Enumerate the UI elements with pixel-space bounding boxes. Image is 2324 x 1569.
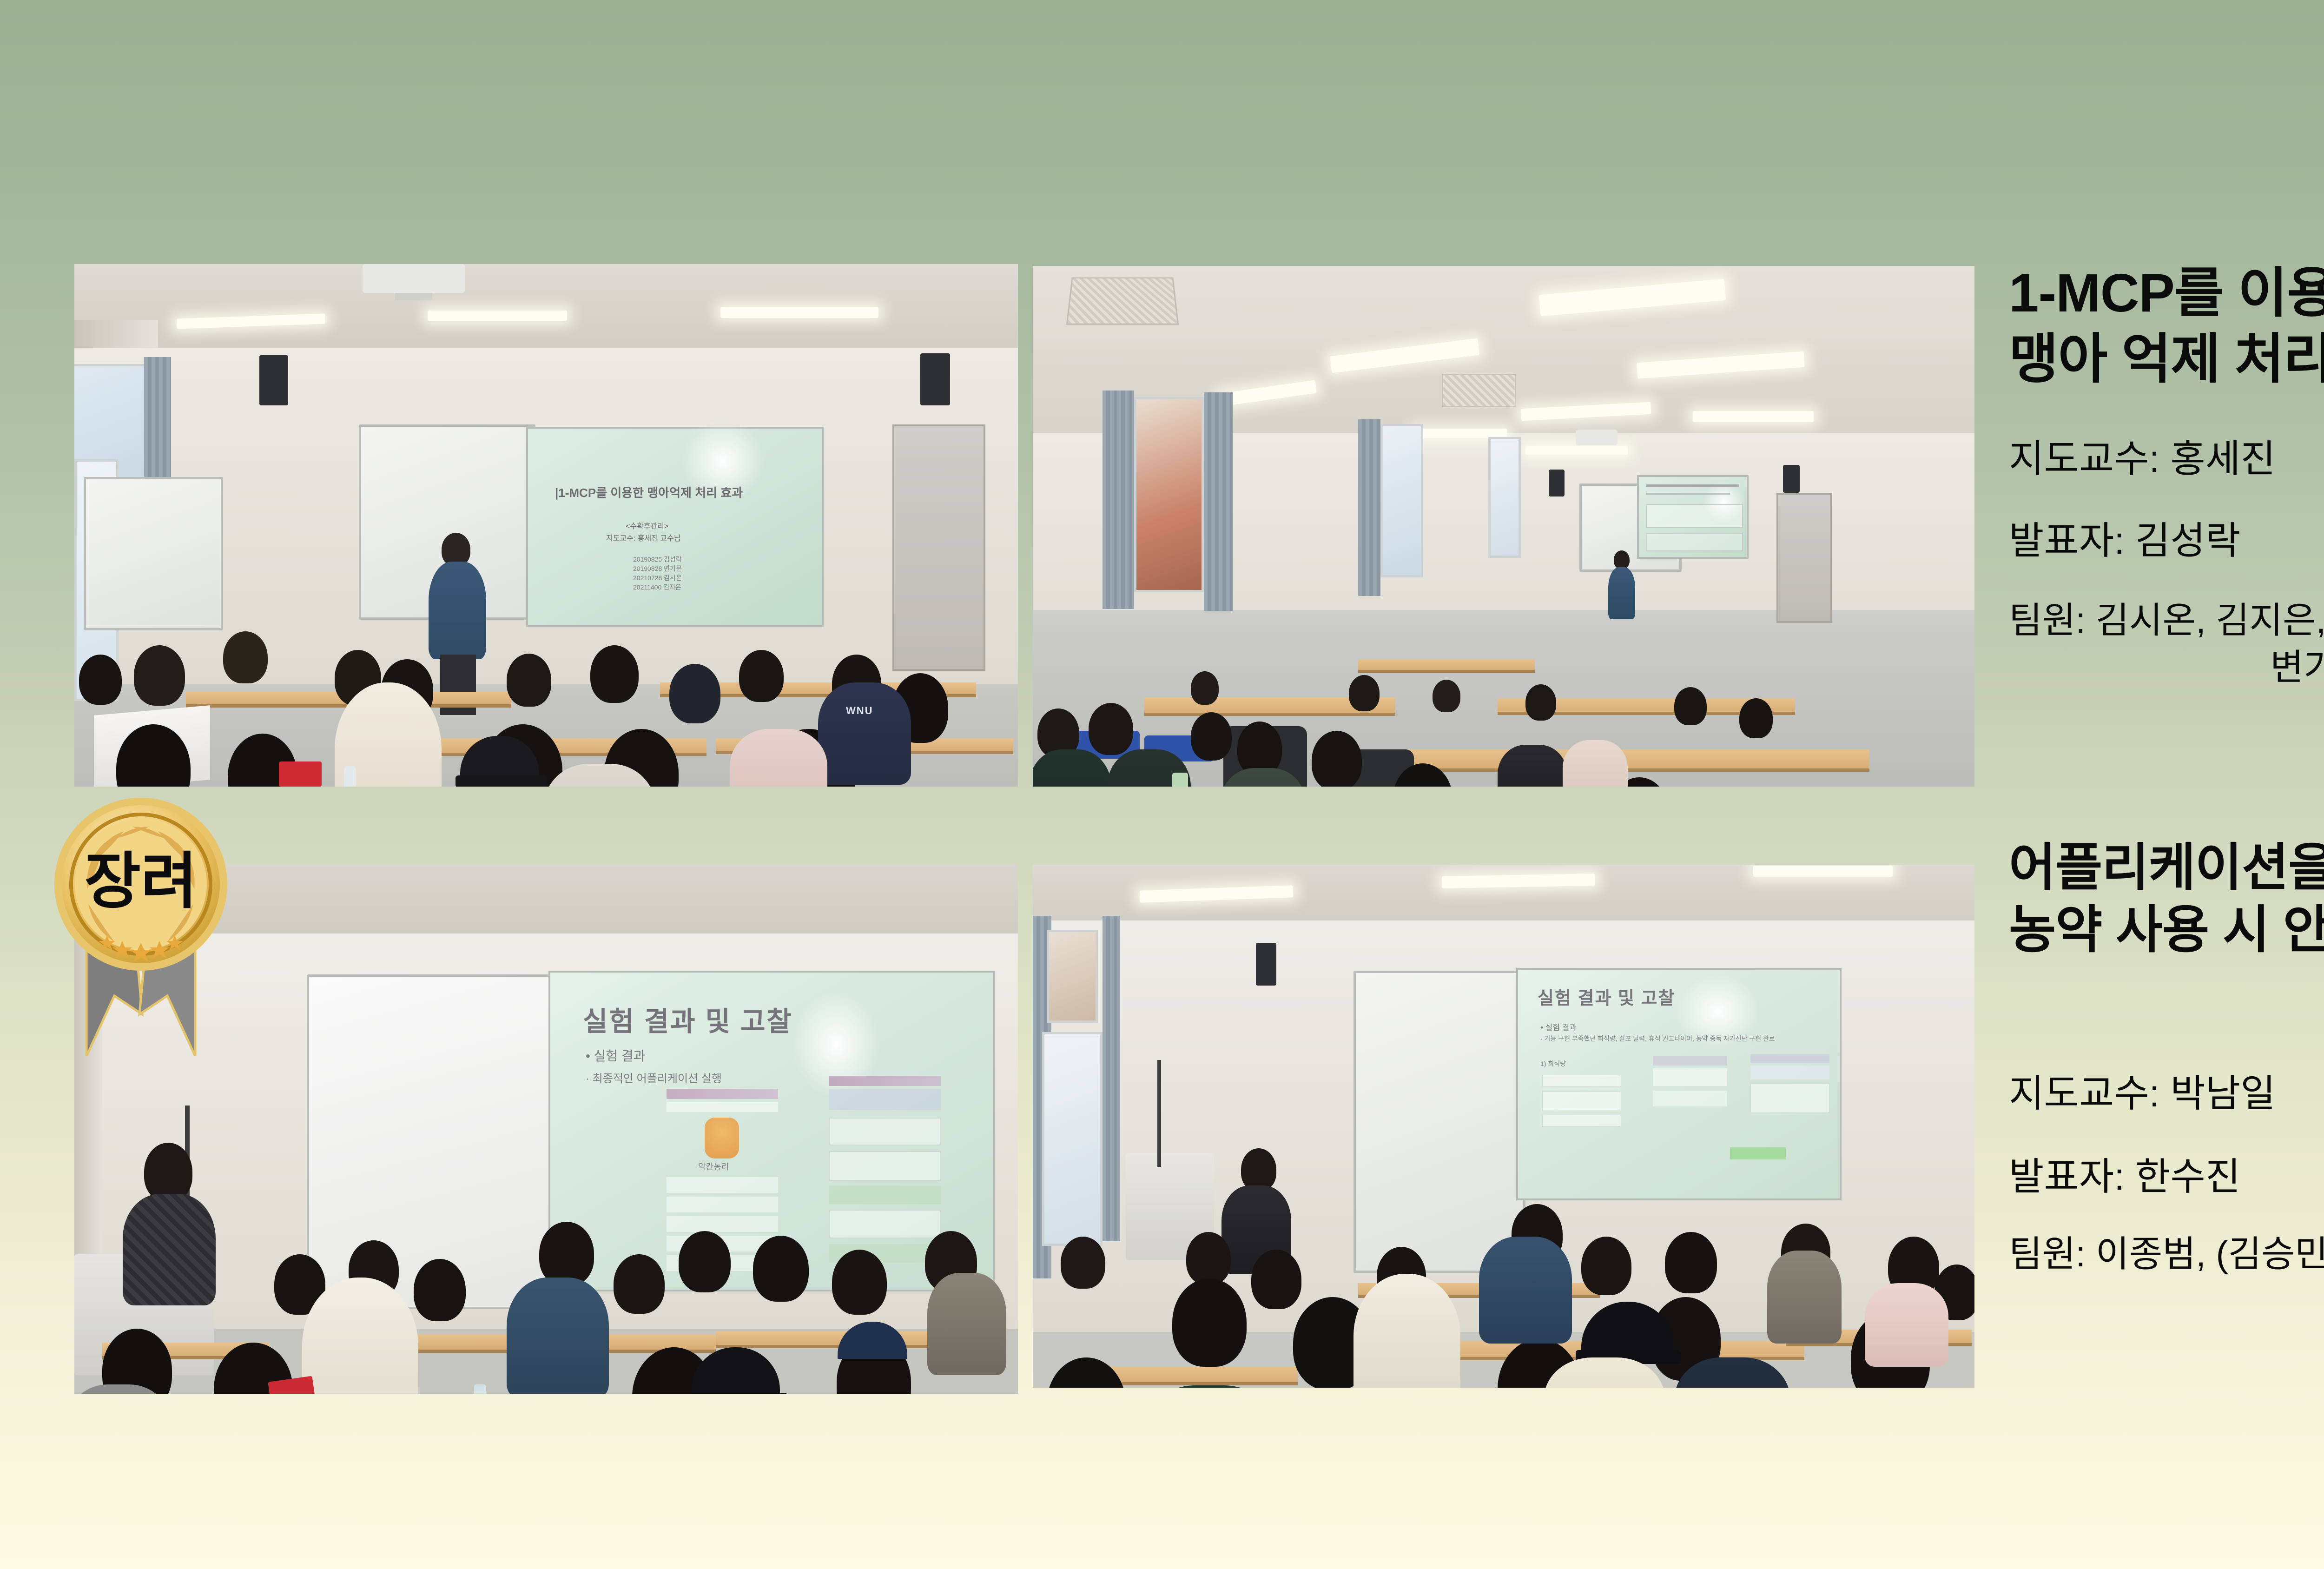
award-badge-label: 장려 xyxy=(46,851,236,912)
photo-top-left: |1-MCP를 이용한 맹아억제 처리 효과 <수확후관리> 지도교수: 홍세진… xyxy=(74,264,1018,787)
slide-title: 실험 결과 및 고찰 xyxy=(1538,984,1675,1009)
hoodie-logo: WNU xyxy=(846,705,888,717)
app-farmer-icon xyxy=(705,1118,739,1159)
slide-bullet-2: · 최종적인 어플리케이션 실행 xyxy=(586,1069,722,1086)
wall-speaker-icon xyxy=(920,353,950,405)
slide-title: |1-MCP를 이용한 맹아억제 처리 효과 xyxy=(555,483,743,501)
slide-roster: 20190825 김성락 20190828 변기문 20210728 김시온 2… xyxy=(633,555,682,592)
award-badge: 장려 xyxy=(46,796,236,1056)
slide-app-label: 악칸농리 xyxy=(698,1160,729,1172)
project-team-line-1: 팀원: 이종범, (김승민, 장민영) xyxy=(2009,1232,2324,1276)
project-team-line-1: 팀원: 김시온, 김지은, 김한비, xyxy=(2009,599,2324,642)
projection-screen xyxy=(1637,475,1749,559)
presentation-slide: |1-MCP를 이용한 맹아억제 처리 효과 <수확후관리> 지도교수: 홍세진… xyxy=(0,0,2324,1569)
ceiling-vent-icon xyxy=(1066,278,1179,325)
slide-bullet-1: • 실험 결과 xyxy=(586,1046,645,1065)
projection-screen: 실험 결과 및 고찰 • 실험 결과 · 기능 구현 부족했던 희석량, 살포 … xyxy=(1516,968,1842,1200)
ceiling-projector-icon xyxy=(363,264,465,293)
project-advisor: 지도교수: 홍세진 xyxy=(2009,437,2324,482)
photo-bottom-right: 실험 결과 및 고찰 • 실험 결과 · 기능 구현 부족했던 희석량, 살포 … xyxy=(1033,865,1974,1388)
slide-subtitle-2: 지도교수: 홍세진 교수님 xyxy=(606,532,681,543)
project-advisor: 지도교수: 박남일 xyxy=(2009,1071,2324,1117)
project-team-line-2: 변기문, (유원영) xyxy=(2009,646,2324,689)
slide-bullet-1: • 실험 결과 xyxy=(1540,1021,1577,1033)
projection-screen: |1-MCP를 이용한 맹아억제 처리 효과 <수확후관리> 지도교수: 홍세진… xyxy=(526,427,824,627)
wall-speaker-icon xyxy=(259,355,288,405)
ceiling-vent-icon xyxy=(1442,374,1516,407)
project-presenter: 발표자: 한수진 xyxy=(2009,1154,2324,1200)
project-info-top: 1-MCP를 이용한 맹아 억제 처리 효과. 지도교수: 홍세진 발표자: 김… xyxy=(2009,260,2324,689)
classroom-door xyxy=(892,424,985,671)
project-info-bottom: 어플리케이션을 활용한 농약 사용 시 안전 도우미 지도교수: 박남일 발표자… xyxy=(2009,837,2324,1276)
slide-bullet-2: · 기능 구현 부족했던 희석량, 살포 달력, 휴식 권고타이머, 농약 중독… xyxy=(1540,1034,1775,1043)
project-presenter: 발표자: 김성락 xyxy=(2009,518,2324,564)
slide-section-label: 1) 희석량 xyxy=(1540,1059,1566,1068)
project-title: 어플리케이션을 활용한 농약 사용 시 안전 도우미 xyxy=(2009,837,2324,961)
project-title: 1-MCP를 이용한 맹아 억제 처리 효과. xyxy=(2009,260,2324,392)
slide-subtitle-1: <수확후관리> xyxy=(626,520,668,531)
slide-title: 실험 결과 및 고찰 xyxy=(583,1000,793,1039)
photo-top-right xyxy=(1033,266,1974,787)
